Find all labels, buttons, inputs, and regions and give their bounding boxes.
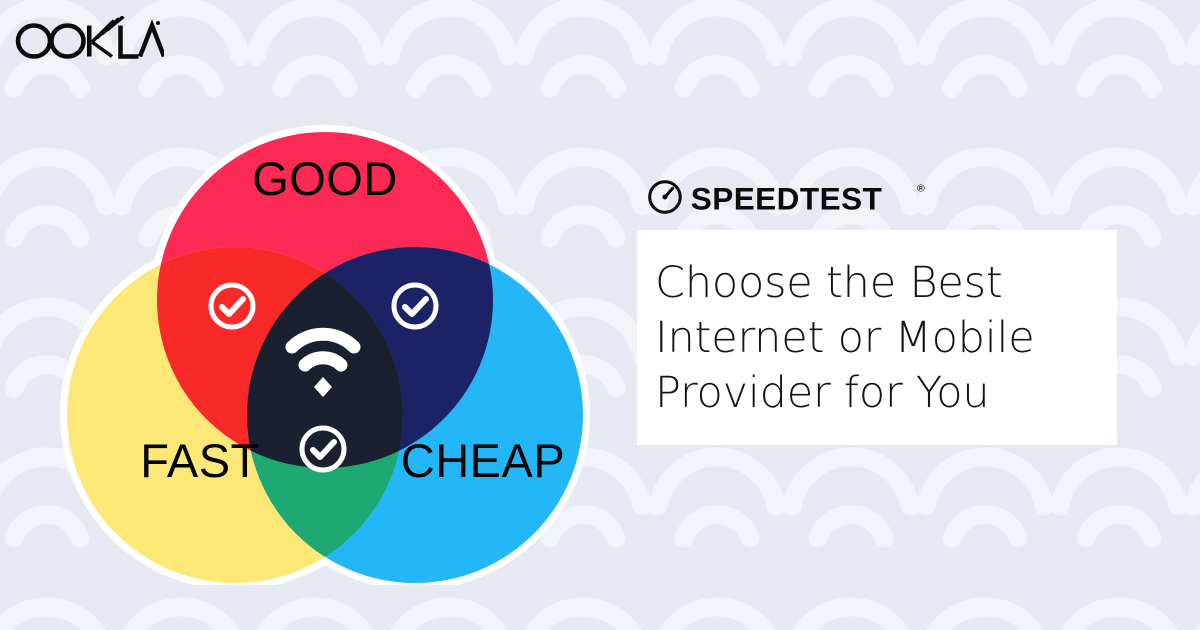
registered-mark-icon bbox=[156, 21, 160, 25]
speedtest-logo: SPEEDTEST ® bbox=[645, 176, 935, 218]
venn-label-cheap: CHEAP bbox=[401, 434, 565, 487]
headline-card: Choose the Best Internet or Mobile Provi… bbox=[637, 230, 1117, 445]
page-title: Choose the Best Internet or Mobile Provi… bbox=[655, 256, 1087, 421]
promo-graphic: GOOD FAST CHEAP bbox=[0, 0, 1200, 630]
venn-diagram: GOOD FAST CHEAP bbox=[40, 55, 610, 585]
speedtest-wordmark: SPEEDTEST bbox=[691, 180, 883, 216]
speedometer-gauge-icon bbox=[650, 182, 681, 213]
registered-mark-icon: ® bbox=[917, 182, 925, 194]
venn-label-good: GOOD bbox=[252, 152, 398, 205]
venn-label-fast: FAST bbox=[140, 434, 260, 487]
